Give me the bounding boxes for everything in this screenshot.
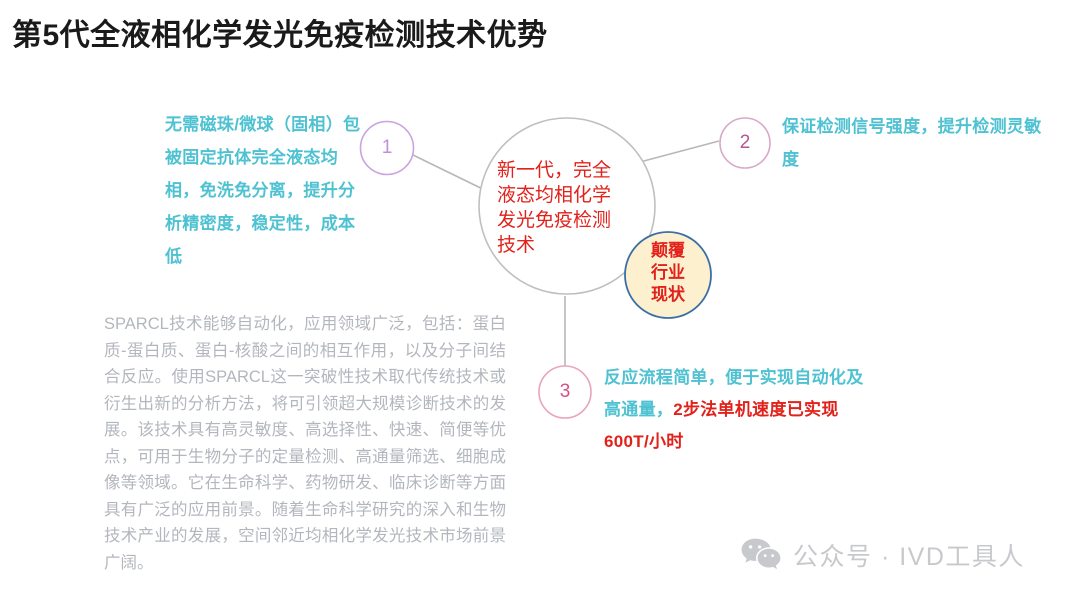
slide-canvas: 第5代全液相化学发光免疫检测技术优势 新一代，完全液态均相化学发光免疫检测技术 …: [0, 0, 1080, 603]
node-text-2: 保证检测信号强度，提升检测灵敏度: [782, 110, 1042, 176]
description-paragraph: SPARCL技术能够自动化，应用领域广泛，包括：蛋白质-蛋白质、蛋白-核酸之间的…: [104, 311, 506, 576]
wechat-icon: [741, 538, 781, 572]
badge-label-line3: 现状: [626, 284, 710, 306]
badge-label-line1: 颠覆: [626, 240, 710, 262]
node-number-3: 3: [538, 365, 592, 419]
node-number-1: 1: [360, 121, 414, 175]
node-number-2: 2: [718, 116, 772, 170]
center-circle-label: 新一代，完全液态均相化学发光免疫检测技术: [497, 158, 629, 258]
node-text-1: 无需磁珠/微球（固相）包被固定抗体完全液态均相，免洗免分离，提升分析精密度，稳定…: [165, 108, 365, 273]
watermark: 公众号 · IVD工具人: [741, 537, 1025, 573]
node-text-3: 反应流程简单，便于实现自动化及高通量，2步法单机速度已实现600T/小时: [604, 362, 872, 458]
connector-line-2: [640, 141, 719, 162]
badge-label: 颠覆 行业 现状: [626, 240, 710, 306]
watermark-text: 公众号 · IVD工具人: [793, 537, 1025, 573]
badge-label-line2: 行业: [626, 262, 710, 284]
